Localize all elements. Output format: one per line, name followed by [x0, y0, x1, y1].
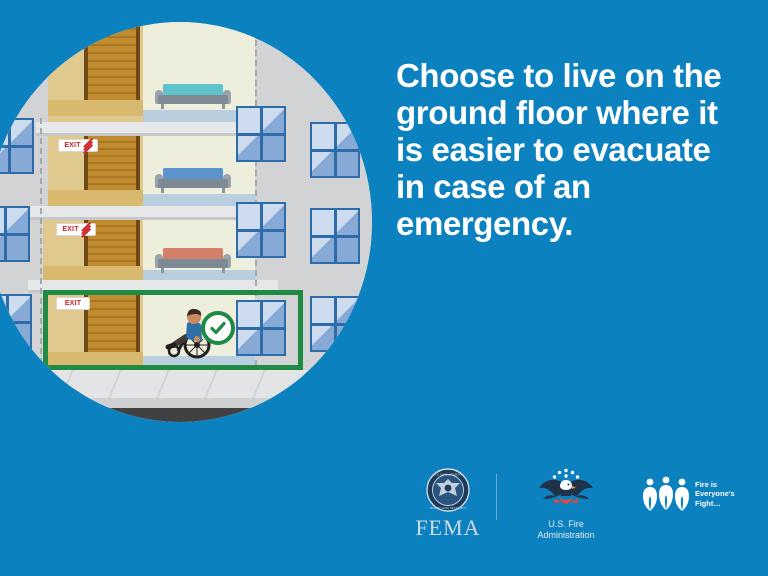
window-r2-a: [236, 202, 286, 258]
fire-is-everyones-fight-wordmark: Fire is Everyone's Fight…: [695, 480, 735, 508]
exit-sign-label: EXIT: [62, 226, 78, 233]
illustration-circle: EXIT: [0, 22, 372, 422]
fema-logo: U.S. DEPARTMENT HOMELAND SECURITY FEMA: [396, 468, 500, 539]
window-r3-b: [310, 296, 360, 352]
svg-text:U.S. DEPARTMENT: U.S. DEPARTMENT: [433, 473, 463, 477]
sofa-floor-2: [155, 248, 231, 272]
window-l2: [0, 206, 30, 262]
usfa-logo: U.S. Fire Administration: [506, 466, 626, 542]
usfa-line-2: Administration: [506, 530, 626, 541]
footer-logos: U.S. DEPARTMENT HOMELAND SECURITY FEMA: [386, 462, 758, 562]
usfa-wordmark: U.S. Fire Administration: [506, 519, 626, 542]
window-l1: [0, 118, 34, 174]
exit-sign-floor-2: EXIT: [56, 223, 96, 236]
curb: [0, 398, 372, 408]
no-entry-slash-icon: [81, 225, 90, 234]
fema-wordmark: FEMA: [396, 517, 500, 539]
eagle-emblem-icon: [537, 466, 595, 516]
feif-line-3: Fight…: [695, 499, 735, 508]
exit-sign-floor-3: EXIT: [58, 139, 98, 152]
people-figures-icon: [642, 476, 690, 512]
sofa-floor-3: [155, 168, 231, 194]
ground-floor-highlight: [43, 290, 303, 370]
fire-is-everyones-fight-logo: Fire is Everyone's Fight…: [642, 476, 758, 512]
no-entry-slash-icon: [83, 141, 92, 150]
cut-line-left: [40, 118, 42, 364]
feif-line-1: Fire is: [695, 480, 735, 489]
window-l3: [0, 294, 32, 350]
feif-line-2: Everyone's: [695, 489, 735, 498]
window-r1-a: [236, 106, 286, 162]
usfa-line-1: U.S. Fire: [506, 519, 626, 530]
sofa-floor-4: [155, 84, 231, 110]
sidewalk: [0, 370, 372, 398]
window-r2-b: [310, 208, 360, 264]
dhs-seal-icon: U.S. DEPARTMENT HOMELAND SECURITY: [426, 468, 470, 512]
svg-text:HOMELAND SECURITY: HOMELAND SECURITY: [430, 506, 467, 510]
poster-canvas: EXIT: [0, 0, 768, 576]
headline-text: Choose to live on the ground floor where…: [396, 58, 732, 243]
street: [0, 408, 372, 422]
window-r1-b: [310, 122, 360, 178]
logo-divider: [496, 474, 497, 520]
exit-sign-label: EXIT: [64, 142, 80, 149]
